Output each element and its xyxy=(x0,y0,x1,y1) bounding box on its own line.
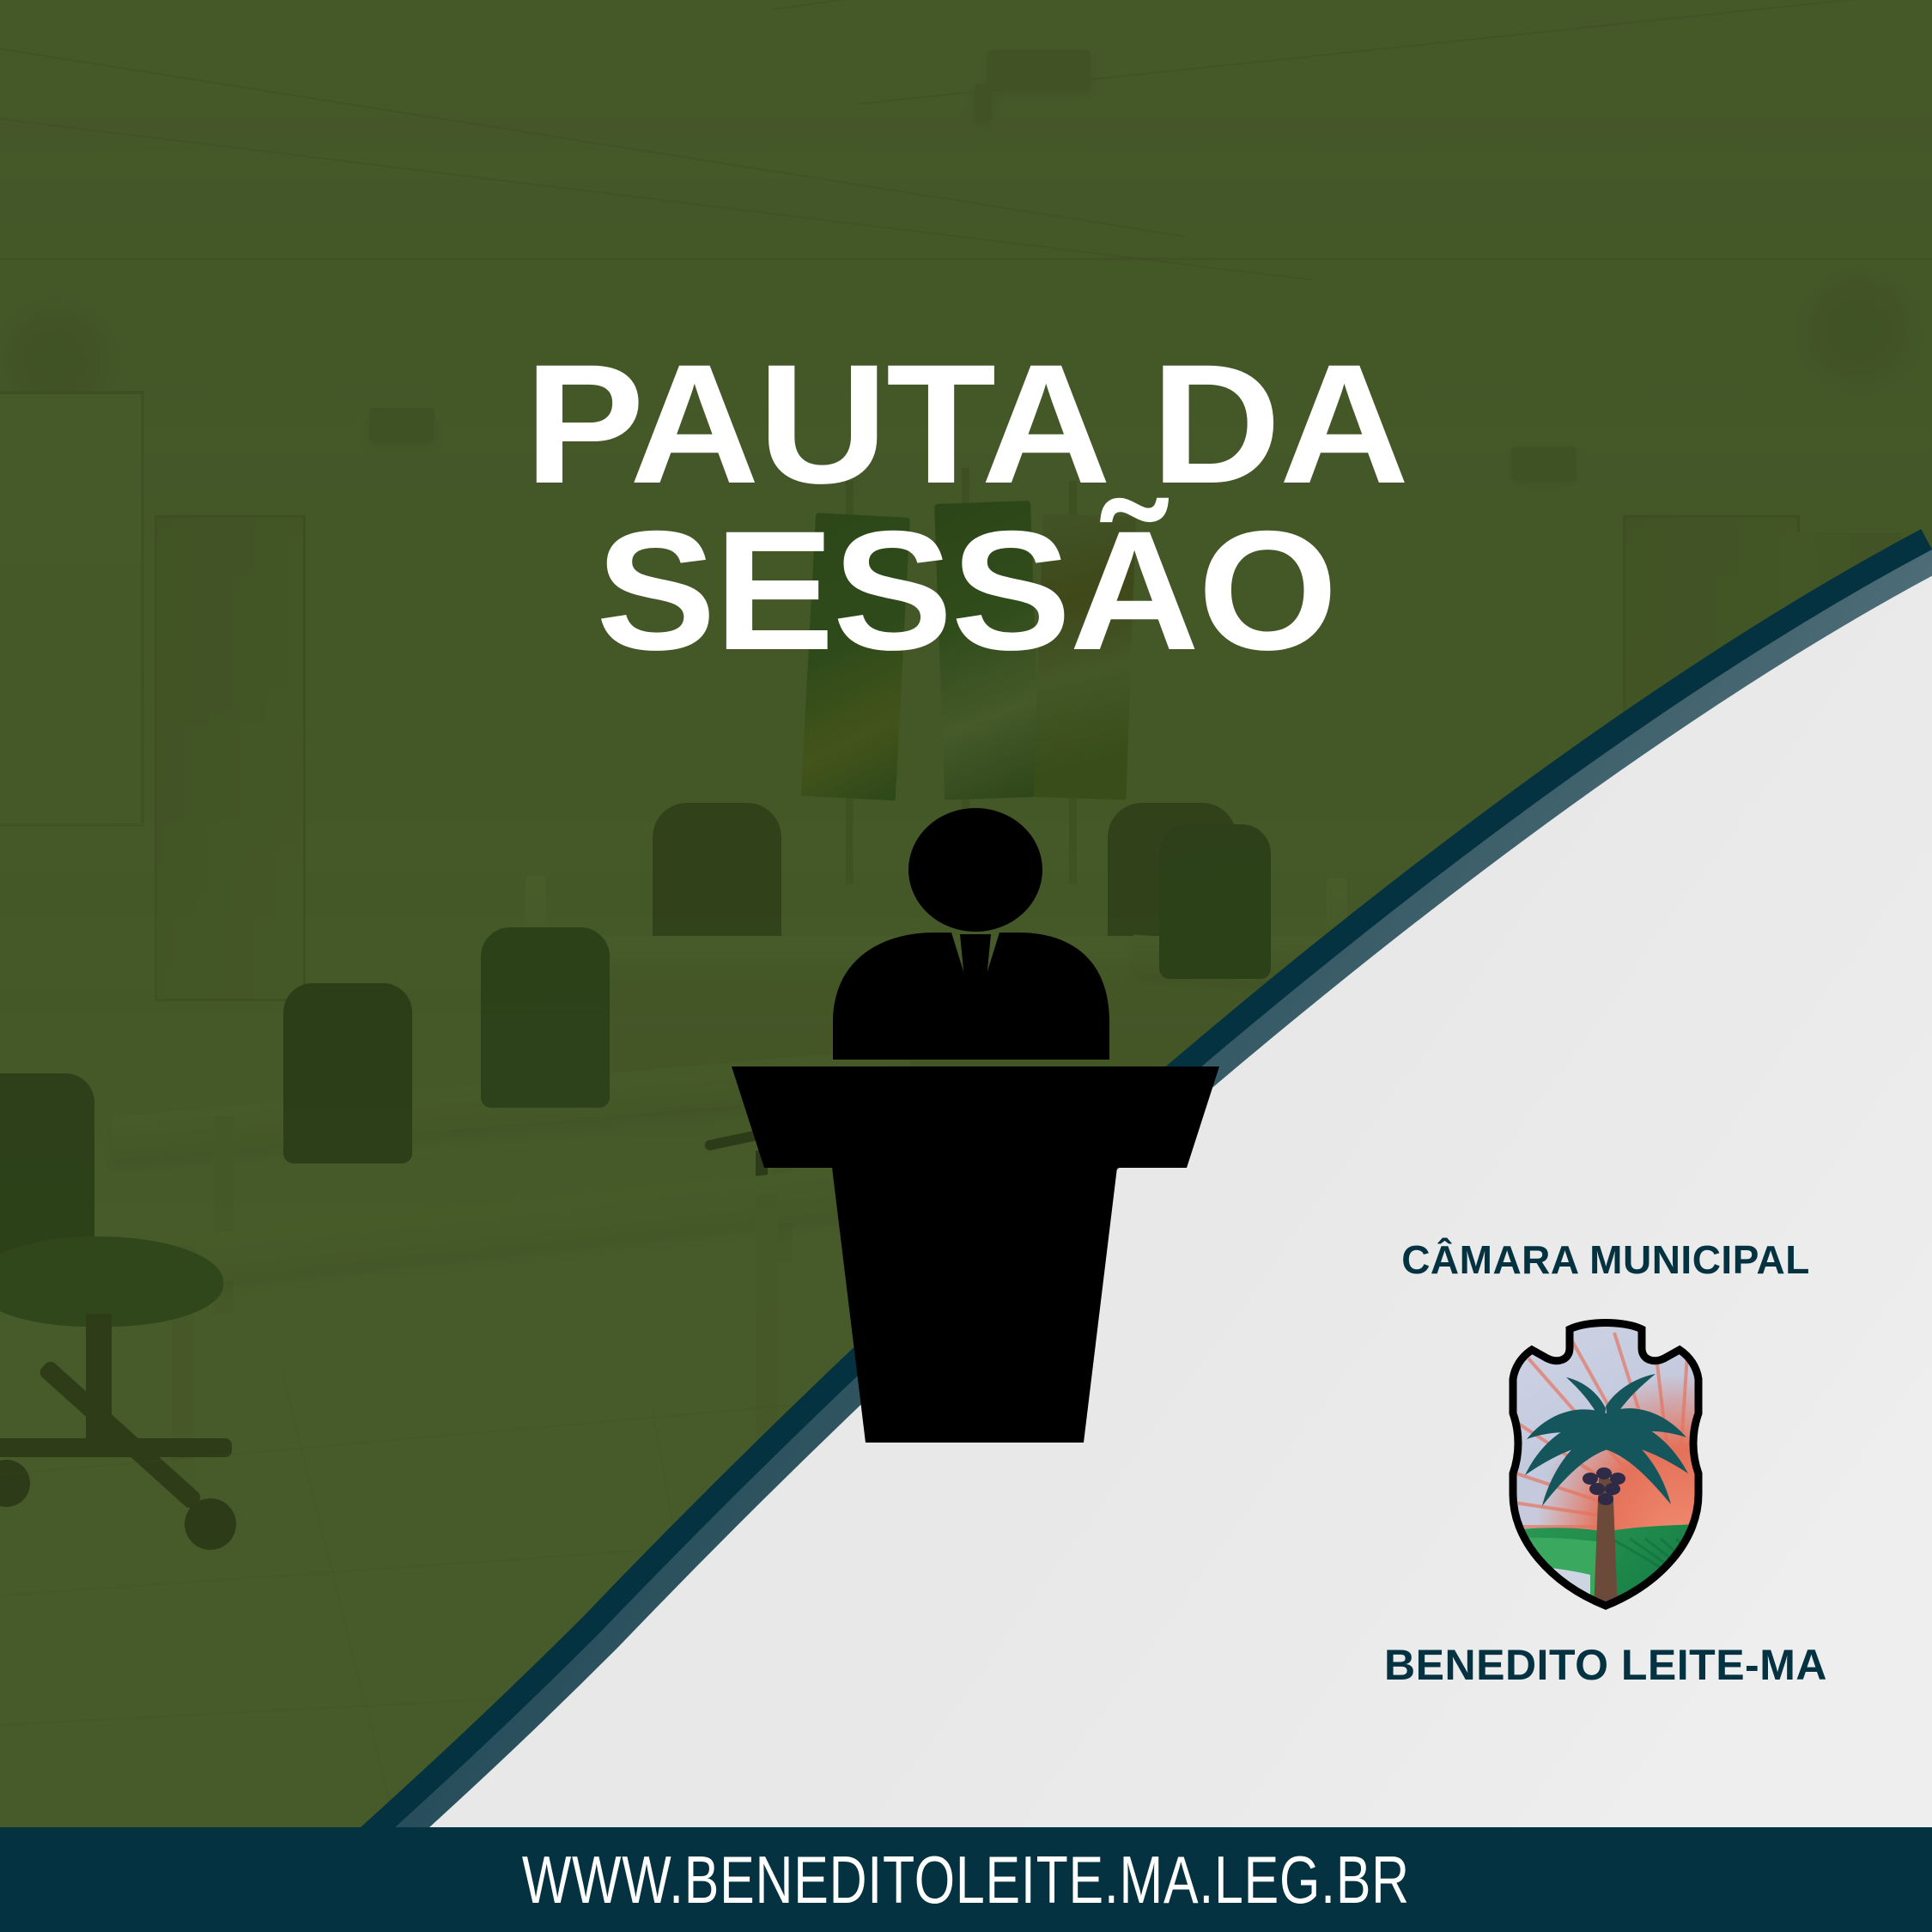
podium-speaker-icon xyxy=(713,807,1245,1460)
poster-canvas: PAUTA DA SESSÃO CÂMARA MUNICIPAL xyxy=(0,0,1932,1932)
lectern-body xyxy=(826,1118,1123,1443)
footer-url-bar: WWW.BENEDITOLEITE.MA.LEG.BR xyxy=(0,1827,1932,1932)
footer-url-text: WWW.BENEDITOLEITE.MA.LEG.BR xyxy=(522,1841,1410,1919)
brand-bottom-label: BENEDITO LEITE-MA xyxy=(1340,1640,1872,1690)
brand-top-label: CÂMARA MUNICIPAL xyxy=(1340,1236,1872,1283)
emblem-wrapper xyxy=(1340,1310,1872,1611)
branding-block: CÂMARA MUNICIPAL xyxy=(1340,1236,1872,1690)
lectern-neck xyxy=(835,1125,1115,1154)
coat-of-arms-icon xyxy=(1477,1310,1735,1611)
speaker-head xyxy=(908,808,1042,932)
